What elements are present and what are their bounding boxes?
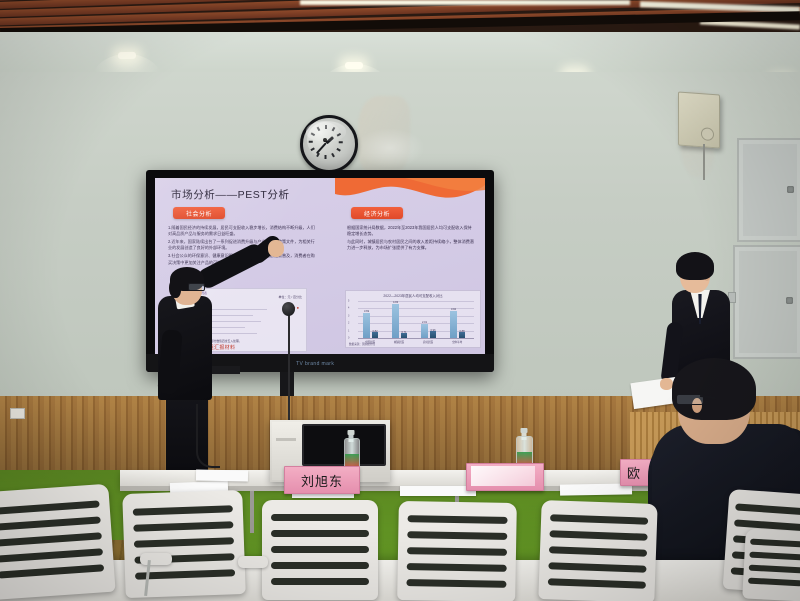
clock-minute-hand <box>316 142 327 154</box>
lectern-slot <box>276 438 296 441</box>
speaker-cone-icon <box>701 127 714 141</box>
clock-glass-glare <box>306 121 346 141</box>
display-stand-column <box>280 372 294 398</box>
panel-latch-icon[interactable] <box>786 297 793 304</box>
chair-armrest[interactable] <box>238 556 268 568</box>
display-bracket <box>210 366 240 374</box>
chair-backrest[interactable] <box>122 490 246 598</box>
ceiling-light-strip <box>300 0 630 5</box>
access-panel-lower[interactable] <box>733 245 800 359</box>
placard-glare <box>471 466 535 486</box>
classroom-photo: 市场分析——PEST分析 社会分析 经济分析 1.随着国民经济的持续发展，居民可… <box>0 0 800 601</box>
chair-backrest[interactable] <box>262 500 378 600</box>
wall-clock <box>300 115 358 173</box>
wall-speaker <box>678 92 720 149</box>
chair-backrest[interactable] <box>0 484 116 601</box>
wall-switch[interactable] <box>10 408 25 419</box>
placard-glared <box>466 463 544 491</box>
desk-leg <box>250 491 254 533</box>
chair-backrest[interactable] <box>742 528 800 601</box>
access-panel-upper[interactable] <box>737 138 800 242</box>
placard-liu-xudong: 刘旭东 <box>284 466 360 494</box>
chair-backrest[interactable] <box>397 501 517 601</box>
presenter-pointing-hand <box>268 240 284 257</box>
wall-light-patch <box>355 128 425 168</box>
speaker-cable <box>703 144 705 180</box>
presenter-glasses-icon <box>188 283 205 291</box>
floor-cable <box>196 404 220 468</box>
display-brand-logo: TV brand mark <box>296 361 334 367</box>
chair-armrest[interactable] <box>140 553 172 565</box>
microphone-head <box>282 302 295 316</box>
evaluator-hair <box>672 358 756 420</box>
presenter-hair-side <box>169 278 181 298</box>
chair-backrest[interactable] <box>538 500 657 601</box>
paper-sheet <box>400 486 476 496</box>
paper-sheet <box>196 470 248 482</box>
panel-latch-icon[interactable] <box>787 186 794 193</box>
student-hair <box>676 252 714 280</box>
